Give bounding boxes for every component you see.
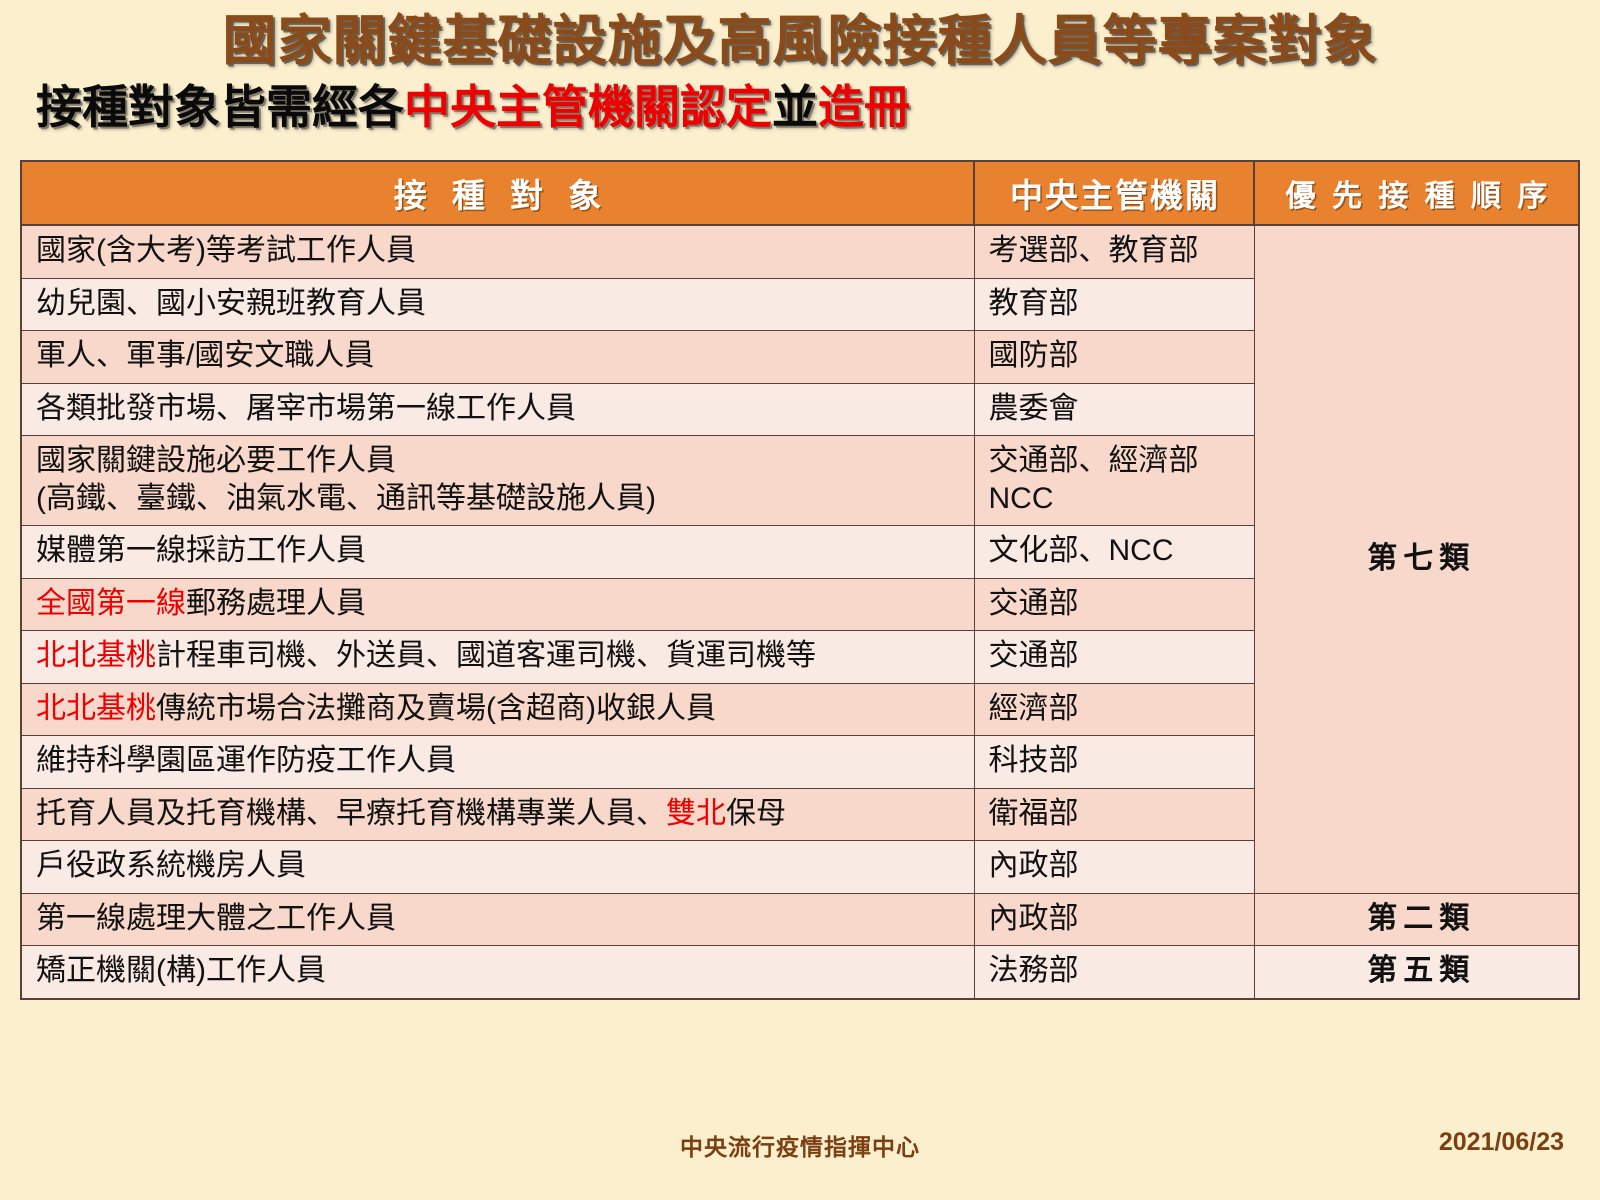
cell-agency: 考選部、教育部 bbox=[974, 225, 1254, 278]
cell-agency: 教育部 bbox=[974, 278, 1254, 331]
target-text: 各類批發市場、屠宰市場第一線工作人員 bbox=[36, 392, 576, 425]
cell-agency: 交通部、經濟部 NCC bbox=[974, 436, 1254, 526]
cell-target: 各類批發市場、屠宰市場第一線工作人員 bbox=[21, 383, 974, 436]
cell-agency: 科技部 bbox=[974, 736, 1254, 789]
target-text: 國家(含大考)等考試工作人員 bbox=[36, 234, 416, 267]
target-text: 維持科學園區運作防疫工作人員 bbox=[36, 744, 456, 777]
target-text: 傳統市場合法攤商及賣場(含超商)收銀人員 bbox=[156, 692, 716, 725]
column-header-agency: 中央主管機關 bbox=[974, 161, 1254, 225]
subtitle-part-3: 並 bbox=[772, 81, 818, 133]
cell-agency: 經濟部 bbox=[974, 683, 1254, 736]
table-row: 國家(含大考)等考試工作人員 考選部、教育部 第七類 bbox=[21, 225, 1579, 278]
subtitle-part-1: 接種對象皆需經各 bbox=[36, 81, 404, 133]
cell-target: 國家(含大考)等考試工作人員 bbox=[21, 225, 974, 278]
target-text: 托育人員及托育機構、早療托育機構專業人員、 bbox=[36, 797, 666, 830]
cell-priority-group-7: 第七類 bbox=[1254, 225, 1579, 893]
target-text: 媒體第一線採訪工作人員 bbox=[36, 534, 366, 567]
target-red-prefix: 全國第一線 bbox=[36, 587, 186, 620]
target-text: 郵務處理人員 bbox=[186, 587, 366, 620]
cell-agency: 衛福部 bbox=[974, 788, 1254, 841]
subtitle-part-4-highlight: 造冊 bbox=[818, 81, 910, 133]
vaccination-table-container: 接 種 對 象 中央主管機關 優 先 接 種 順 序 國家(含大考)等考試工作人… bbox=[20, 160, 1578, 1000]
target-text-tail: 保母 bbox=[726, 797, 786, 830]
cell-agency: 文化部、NCC bbox=[974, 526, 1254, 579]
cell-agency: 交通部 bbox=[974, 578, 1254, 631]
target-red-prefix: 北北基桃 bbox=[36, 639, 156, 672]
cell-target: 幼兒園、國小安親班教育人員 bbox=[21, 278, 974, 331]
table-row: 矯正機關(構)工作人員 法務部 第五類 bbox=[21, 946, 1579, 999]
table-row: 第一線處理大體之工作人員 內政部 第二類 bbox=[21, 893, 1579, 946]
target-text-line1: 國家關鍵設施必要工作人員 bbox=[36, 442, 964, 480]
agency-text-line1: 交通部、經濟部 bbox=[989, 442, 1244, 480]
cell-target: 國家關鍵設施必要工作人員 (高鐵、臺鐵、油氣水電、通訊等基礎設施人員) bbox=[21, 436, 974, 526]
target-text: 第一線處理大體之工作人員 bbox=[36, 902, 396, 935]
target-text: 軍人、軍事/國安文職人員 bbox=[36, 339, 374, 372]
target-text: 戶役政系統機房人員 bbox=[36, 849, 306, 882]
agency-text-line2: NCC bbox=[989, 480, 1244, 518]
vaccination-priority-table: 接 種 對 象 中央主管機關 優 先 接 種 順 序 國家(含大考)等考試工作人… bbox=[20, 160, 1580, 1000]
subtitle-part-2-highlight: 中央主管機關認定 bbox=[404, 81, 772, 133]
target-text: 矯正機關(構)工作人員 bbox=[36, 954, 326, 987]
cell-target: 戶役政系統機房人員 bbox=[21, 841, 974, 894]
cell-agency: 法務部 bbox=[974, 946, 1254, 999]
column-header-priority: 優 先 接 種 順 序 bbox=[1254, 161, 1579, 225]
cell-agency: 交通部 bbox=[974, 631, 1254, 684]
footer-organization: 中央流行疫情指揮中心 bbox=[0, 1128, 1600, 1162]
page-title: 國家關鍵基礎設施及高風險接種人員等專案對象 bbox=[0, 0, 1600, 68]
page-subtitle: 接種對象皆需經各中央主管機關認定並造冊 bbox=[0, 68, 1600, 130]
target-text: 幼兒園、國小安親班教育人員 bbox=[36, 287, 426, 320]
table-header-row: 接 種 對 象 中央主管機關 優 先 接 種 順 序 bbox=[21, 161, 1579, 225]
cell-target: 北北基桃傳統市場合法攤商及賣場(含超商)收銀人員 bbox=[21, 683, 974, 736]
cell-target: 托育人員及托育機構、早療托育機構專業人員、雙北保母 bbox=[21, 788, 974, 841]
cell-agency: 內政部 bbox=[974, 893, 1254, 946]
cell-agency: 農委會 bbox=[974, 383, 1254, 436]
target-text: 計程車司機、外送員、國道客運司機、貨運司機等 bbox=[156, 639, 816, 672]
cell-priority-group-5: 第五類 bbox=[1254, 946, 1579, 999]
target-red-suffix: 雙北 bbox=[666, 797, 726, 830]
cell-agency: 內政部 bbox=[974, 841, 1254, 894]
footer-date: 2021/06/23 bbox=[1439, 1128, 1564, 1157]
cell-agency: 國防部 bbox=[974, 331, 1254, 384]
cell-target: 第一線處理大體之工作人員 bbox=[21, 893, 974, 946]
cell-priority-group-2: 第二類 bbox=[1254, 893, 1579, 946]
cell-target: 媒體第一線採訪工作人員 bbox=[21, 526, 974, 579]
target-text-line2: (高鐵、臺鐵、油氣水電、通訊等基礎設施人員) bbox=[36, 480, 964, 518]
target-red-prefix: 北北基桃 bbox=[36, 692, 156, 725]
cell-target: 北北基桃計程車司機、外送員、國道客運司機、貨運司機等 bbox=[21, 631, 974, 684]
column-header-target: 接 種 對 象 bbox=[21, 161, 974, 225]
page-footer: 中央流行疫情指揮中心 2021/06/23 bbox=[0, 1128, 1600, 1178]
cell-target: 矯正機關(構)工作人員 bbox=[21, 946, 974, 999]
cell-target: 軍人、軍事/國安文職人員 bbox=[21, 331, 974, 384]
cell-target: 維持科學園區運作防疫工作人員 bbox=[21, 736, 974, 789]
cell-target: 全國第一線郵務處理人員 bbox=[21, 578, 974, 631]
